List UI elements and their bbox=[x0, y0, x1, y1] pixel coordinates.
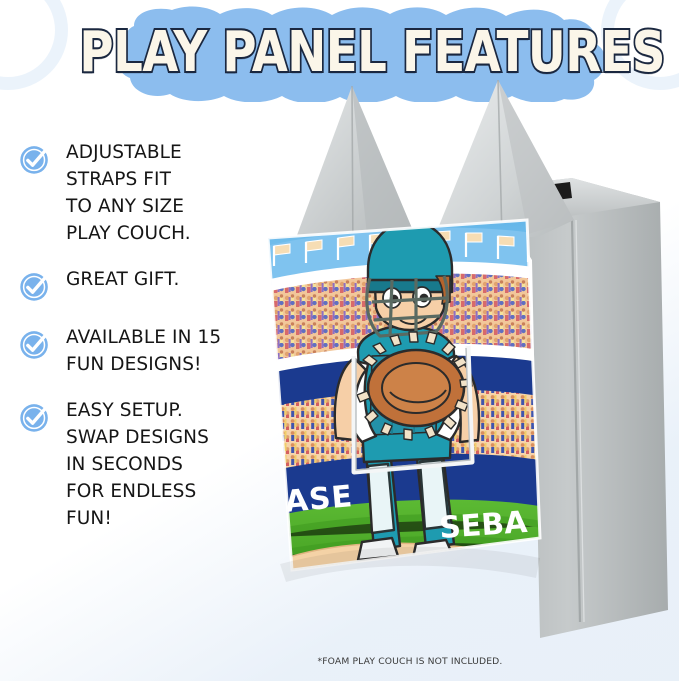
check-circle-icon bbox=[16, 398, 54, 436]
feature-item-label: EASY SETUP. SWAP DESIGNS IN SECONDS FOR … bbox=[66, 396, 209, 532]
product-photo: BASE SEBA bbox=[240, 70, 679, 655]
feature-item-label: ADJUSTABLE STRAPS FIT TO ANY SIZE PLAY C… bbox=[66, 138, 191, 247]
page-title: PLAY PANEL FEATURES bbox=[96, 31, 616, 75]
feature-item-label: AVAILABLE IN 15 FUN DESIGNS! bbox=[66, 323, 221, 378]
check-circle-icon bbox=[16, 267, 54, 305]
check-circle-icon bbox=[16, 325, 54, 363]
disclaimer-text: *FOAM PLAY COUCH IS NOT INCLUDED. bbox=[240, 656, 580, 667]
feature-item-label: GREAT GIFT. bbox=[66, 265, 179, 293]
decorative-ring-left bbox=[0, 0, 68, 90]
infographic-canvas: PLAY PANEL FEATURES ADJUSTABLE STRAPS FI… bbox=[0, 0, 679, 681]
check-circle-icon bbox=[16, 140, 54, 178]
